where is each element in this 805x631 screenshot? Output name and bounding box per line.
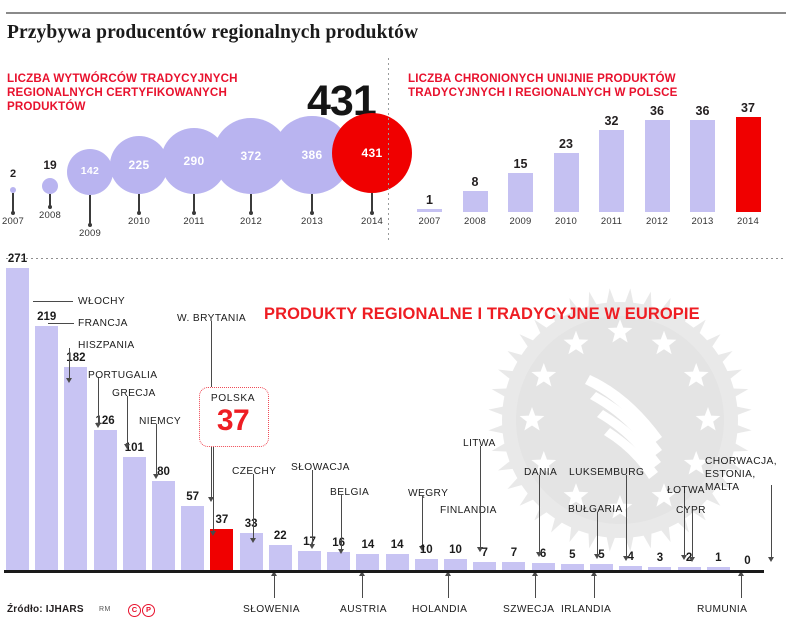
country-bar-1: [35, 326, 58, 570]
country-bar-3: [94, 430, 117, 570]
panel-divider-vertical: [388, 58, 389, 243]
country-label-11: BELGIA: [330, 487, 369, 498]
bar-value-2012: 36: [639, 104, 676, 118]
leader-24: [741, 576, 742, 598]
bubble-stem-2010: [138, 194, 140, 212]
copyright-icon: C: [128, 604, 141, 617]
bar-year-2014: 2014: [729, 216, 768, 227]
leader-19: [594, 576, 595, 598]
bubble-value-2010: 225: [113, 158, 165, 172]
leader-20: [597, 512, 598, 554]
country-bar-4: [123, 457, 146, 570]
country-value-4: 101: [115, 442, 154, 454]
protected-heading: LICZBA CHRONIONYCH UNIJNIE PRODUKTÓW TRA…: [408, 72, 728, 100]
country-label-17: SZWECJA: [503, 604, 554, 615]
leader-21: [626, 475, 627, 556]
bubble-2008: [42, 178, 59, 195]
bubble-stem-dot-2008: [48, 205, 52, 209]
country-label-18: DANIA: [524, 467, 557, 478]
bubble-year-2010: 2010: [123, 216, 155, 227]
country-value-0: 271: [0, 253, 37, 265]
country-bar-13: [386, 554, 409, 570]
bar-2010: [554, 153, 579, 212]
country-bar-2: [64, 367, 87, 570]
country-label-23: CYPR: [676, 505, 706, 516]
bubble-stem-2007: [12, 193, 14, 212]
country-value-6: 57: [173, 491, 212, 503]
leader-3: [98, 378, 99, 423]
bubble-stem-dot-2014: [370, 211, 374, 215]
leader-8: [253, 474, 254, 538]
europe-axis: [4, 570, 764, 573]
bubble-year-2007: 2007: [0, 216, 29, 227]
country-label-10: SŁOWACJA: [291, 462, 350, 473]
bar-2009: [508, 173, 533, 212]
bar-value-2007: 1: [411, 193, 448, 207]
country-label-22: ŁOTWA: [667, 485, 705, 496]
bubble-stem-dot-2013: [310, 211, 314, 215]
source-label: Źródło: IJHARS: [7, 604, 84, 615]
country-bar-14: [415, 559, 438, 570]
leader-arrow-23: [689, 557, 695, 562]
leader-13: [422, 496, 423, 546]
phonogram-icon: P: [142, 604, 155, 617]
country-label-9: SŁOWENIA: [243, 604, 300, 615]
leader-arrow-20: [594, 554, 600, 559]
country-bar-6: [181, 506, 204, 570]
country-value-3: 126: [86, 415, 125, 427]
country-label-15: FINLANDIA: [440, 505, 497, 516]
country-value-1: 219: [27, 311, 66, 323]
country-bar-15: [444, 559, 467, 570]
panel-divider-horizontal: [6, 258, 786, 259]
leader-10: [312, 470, 313, 544]
bar-value-2014: 37: [730, 101, 767, 115]
country-label-20: BUŁGARIA: [568, 504, 623, 515]
leader-arrow-10: [309, 544, 315, 549]
bar-year-2010: 2010: [547, 216, 586, 227]
country-value-2: 182: [56, 352, 95, 364]
bubble-stem-dot-2011: [192, 211, 196, 215]
country-label-1: FRANCJA: [78, 318, 128, 329]
country-bar-16: [473, 562, 496, 570]
country-label-14: HOLANDIA: [412, 604, 467, 615]
leader-arrow-2: [66, 378, 72, 383]
bar-2011: [599, 130, 624, 212]
leader-5: [156, 424, 157, 474]
bar-2013: [690, 120, 715, 212]
leader-arrow-poland: [210, 531, 216, 536]
leader-arrow-25: [768, 557, 774, 562]
country-label-25: CHORWACJA, ESTONIA, MALTA: [705, 455, 785, 494]
bubble-value-2007: 2: [4, 168, 22, 180]
bar-value-2008: 8: [457, 175, 494, 189]
leader-arrow-21: [623, 556, 629, 561]
europe-title: PRODUKTY REGIONALNE I TRADYCYJNE W EUROP…: [264, 305, 700, 324]
country-value-8: 33: [232, 518, 271, 530]
bubble-value-2013: 386: [286, 148, 338, 162]
bubble-stem-2012: [250, 194, 252, 212]
country-bar-12: [356, 554, 379, 570]
country-bar-11: [327, 552, 350, 570]
bubble-year-2014: 2014: [356, 216, 388, 227]
leader-0: [33, 301, 73, 302]
leader-22: [684, 493, 685, 555]
country-bar-9: [269, 545, 292, 570]
country-bar-5: [152, 481, 175, 570]
country-bar-10: [298, 551, 321, 570]
bubble-stem-2014: [371, 193, 373, 212]
leader-25: [771, 485, 772, 557]
country-label-19: IRLANDIA: [561, 604, 611, 615]
poland-callout-label: POLSKA: [199, 393, 267, 404]
bubble-stem-2013: [311, 194, 313, 212]
leader-12: [362, 576, 363, 598]
bar-year-2007: 2007: [410, 216, 449, 227]
bubble-year-2013: 2013: [296, 216, 328, 227]
leader-poland: [213, 446, 214, 531]
bar-year-2011: 2011: [592, 216, 631, 227]
leader-arrow-5: [153, 474, 159, 479]
bar-year-2012: 2012: [638, 216, 677, 227]
bubble-stem-dot-2007: [11, 211, 15, 215]
leader-arrow-8: [250, 538, 256, 543]
country-label-24: RUMUNIA: [697, 604, 747, 615]
country-label-0: WŁOCHY: [78, 296, 125, 307]
leader-2: [69, 348, 70, 378]
bubble-stem-dot-2012: [249, 211, 253, 215]
leader-9: [274, 576, 275, 598]
bar-value-2011: 32: [593, 114, 630, 128]
leader-11: [341, 495, 342, 549]
leader-arrow-16: [477, 547, 483, 552]
top-rule: [6, 12, 786, 14]
country-label-2: HISZPANIA: [78, 340, 135, 351]
bar-2007: [417, 209, 442, 212]
producers-heading: LICZBA WYTWÓRCÓW TRADYCYJNYCH REGIONALNY…: [7, 72, 307, 115]
country-label-5: NIEMCY: [139, 416, 181, 427]
leader-16: [480, 446, 481, 547]
bubble-year-2011: 2011: [178, 216, 210, 227]
bar-value-2010: 23: [548, 137, 585, 151]
country-bar-0: [6, 268, 29, 570]
leader-14: [448, 576, 449, 598]
bubble-value-2009: 142: [64, 165, 116, 177]
leader-1: [48, 323, 74, 324]
bar-2012: [645, 120, 670, 212]
page-title: Przybywa producentów regionalnych produk…: [7, 22, 418, 44]
country-label-21: LUKSEMBURG: [569, 467, 644, 478]
bubble-year-2008: 2008: [34, 210, 66, 221]
bubble-stem-2011: [193, 194, 195, 212]
bubble-value-2008: 19: [41, 158, 59, 172]
bubble-stem-2009: [89, 195, 91, 224]
country-value-5: 80: [144, 466, 183, 478]
bar-value-2009: 15: [502, 157, 539, 171]
bubble-value-2011: 290: [168, 154, 220, 168]
leader-18: [539, 475, 540, 552]
leader-arrow-11: [338, 549, 344, 554]
bar-value-2013: 36: [684, 104, 721, 118]
poland-callout-value: 37: [199, 404, 267, 438]
bubble-year-2009: 2009: [74, 228, 106, 239]
bar-2014: [736, 117, 761, 212]
bar-year-2008: 2008: [456, 216, 495, 227]
country-bar-17: [502, 562, 525, 570]
bubble-stem-dot-2010: [137, 211, 141, 215]
country-bar-18: [532, 563, 555, 570]
leader-23: [692, 513, 693, 557]
bubble-value-2012: 372: [225, 149, 277, 163]
country-value-25: 0: [728, 555, 767, 567]
leader-arrow-18: [536, 552, 542, 557]
leader-17: [535, 576, 536, 598]
country-label-4: GRECJA: [112, 388, 156, 399]
bubble-value-2014: 431: [346, 146, 398, 160]
country-label-12: AUSTRIA: [340, 604, 387, 615]
leader-arrow-4: [124, 444, 130, 449]
country-label-13: WĘGRY: [408, 488, 448, 499]
bar-year-2013: 2013: [683, 216, 722, 227]
leader-arrow-3: [95, 423, 101, 428]
author-tag: RM: [99, 606, 111, 613]
bar-2008: [463, 191, 488, 212]
bubble-stem-dot-2009: [88, 223, 92, 227]
bubble-year-2012: 2012: [235, 216, 267, 227]
leader-4: [127, 396, 128, 444]
bar-year-2009: 2009: [501, 216, 540, 227]
